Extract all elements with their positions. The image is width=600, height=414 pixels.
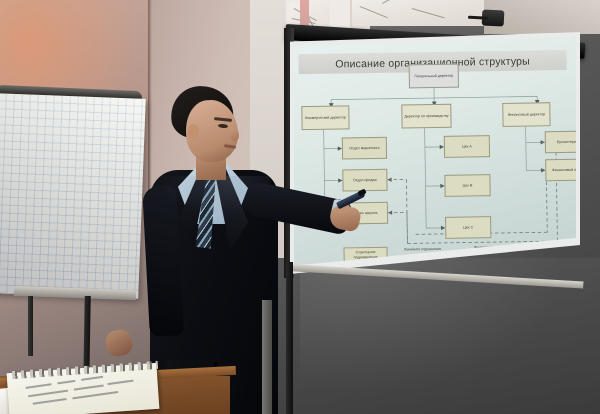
presentation-photo-scene: Описание организационной структуры — [0, 0, 600, 414]
projection-screen: Описание организационной структуры — [286, 6, 588, 278]
screen-bracket — [482, 9, 505, 26]
flipchart-paper — [0, 93, 146, 299]
flipchart-shading — [0, 93, 146, 299]
screen-stand-secondary — [262, 300, 272, 414]
flipchart-leg-secondary — [28, 296, 33, 356]
slide-footer: Бизнес-инжиниринговые технологии — [442, 260, 539, 268]
presenter-ear — [188, 124, 199, 140]
screen-stand — [286, 262, 293, 414]
